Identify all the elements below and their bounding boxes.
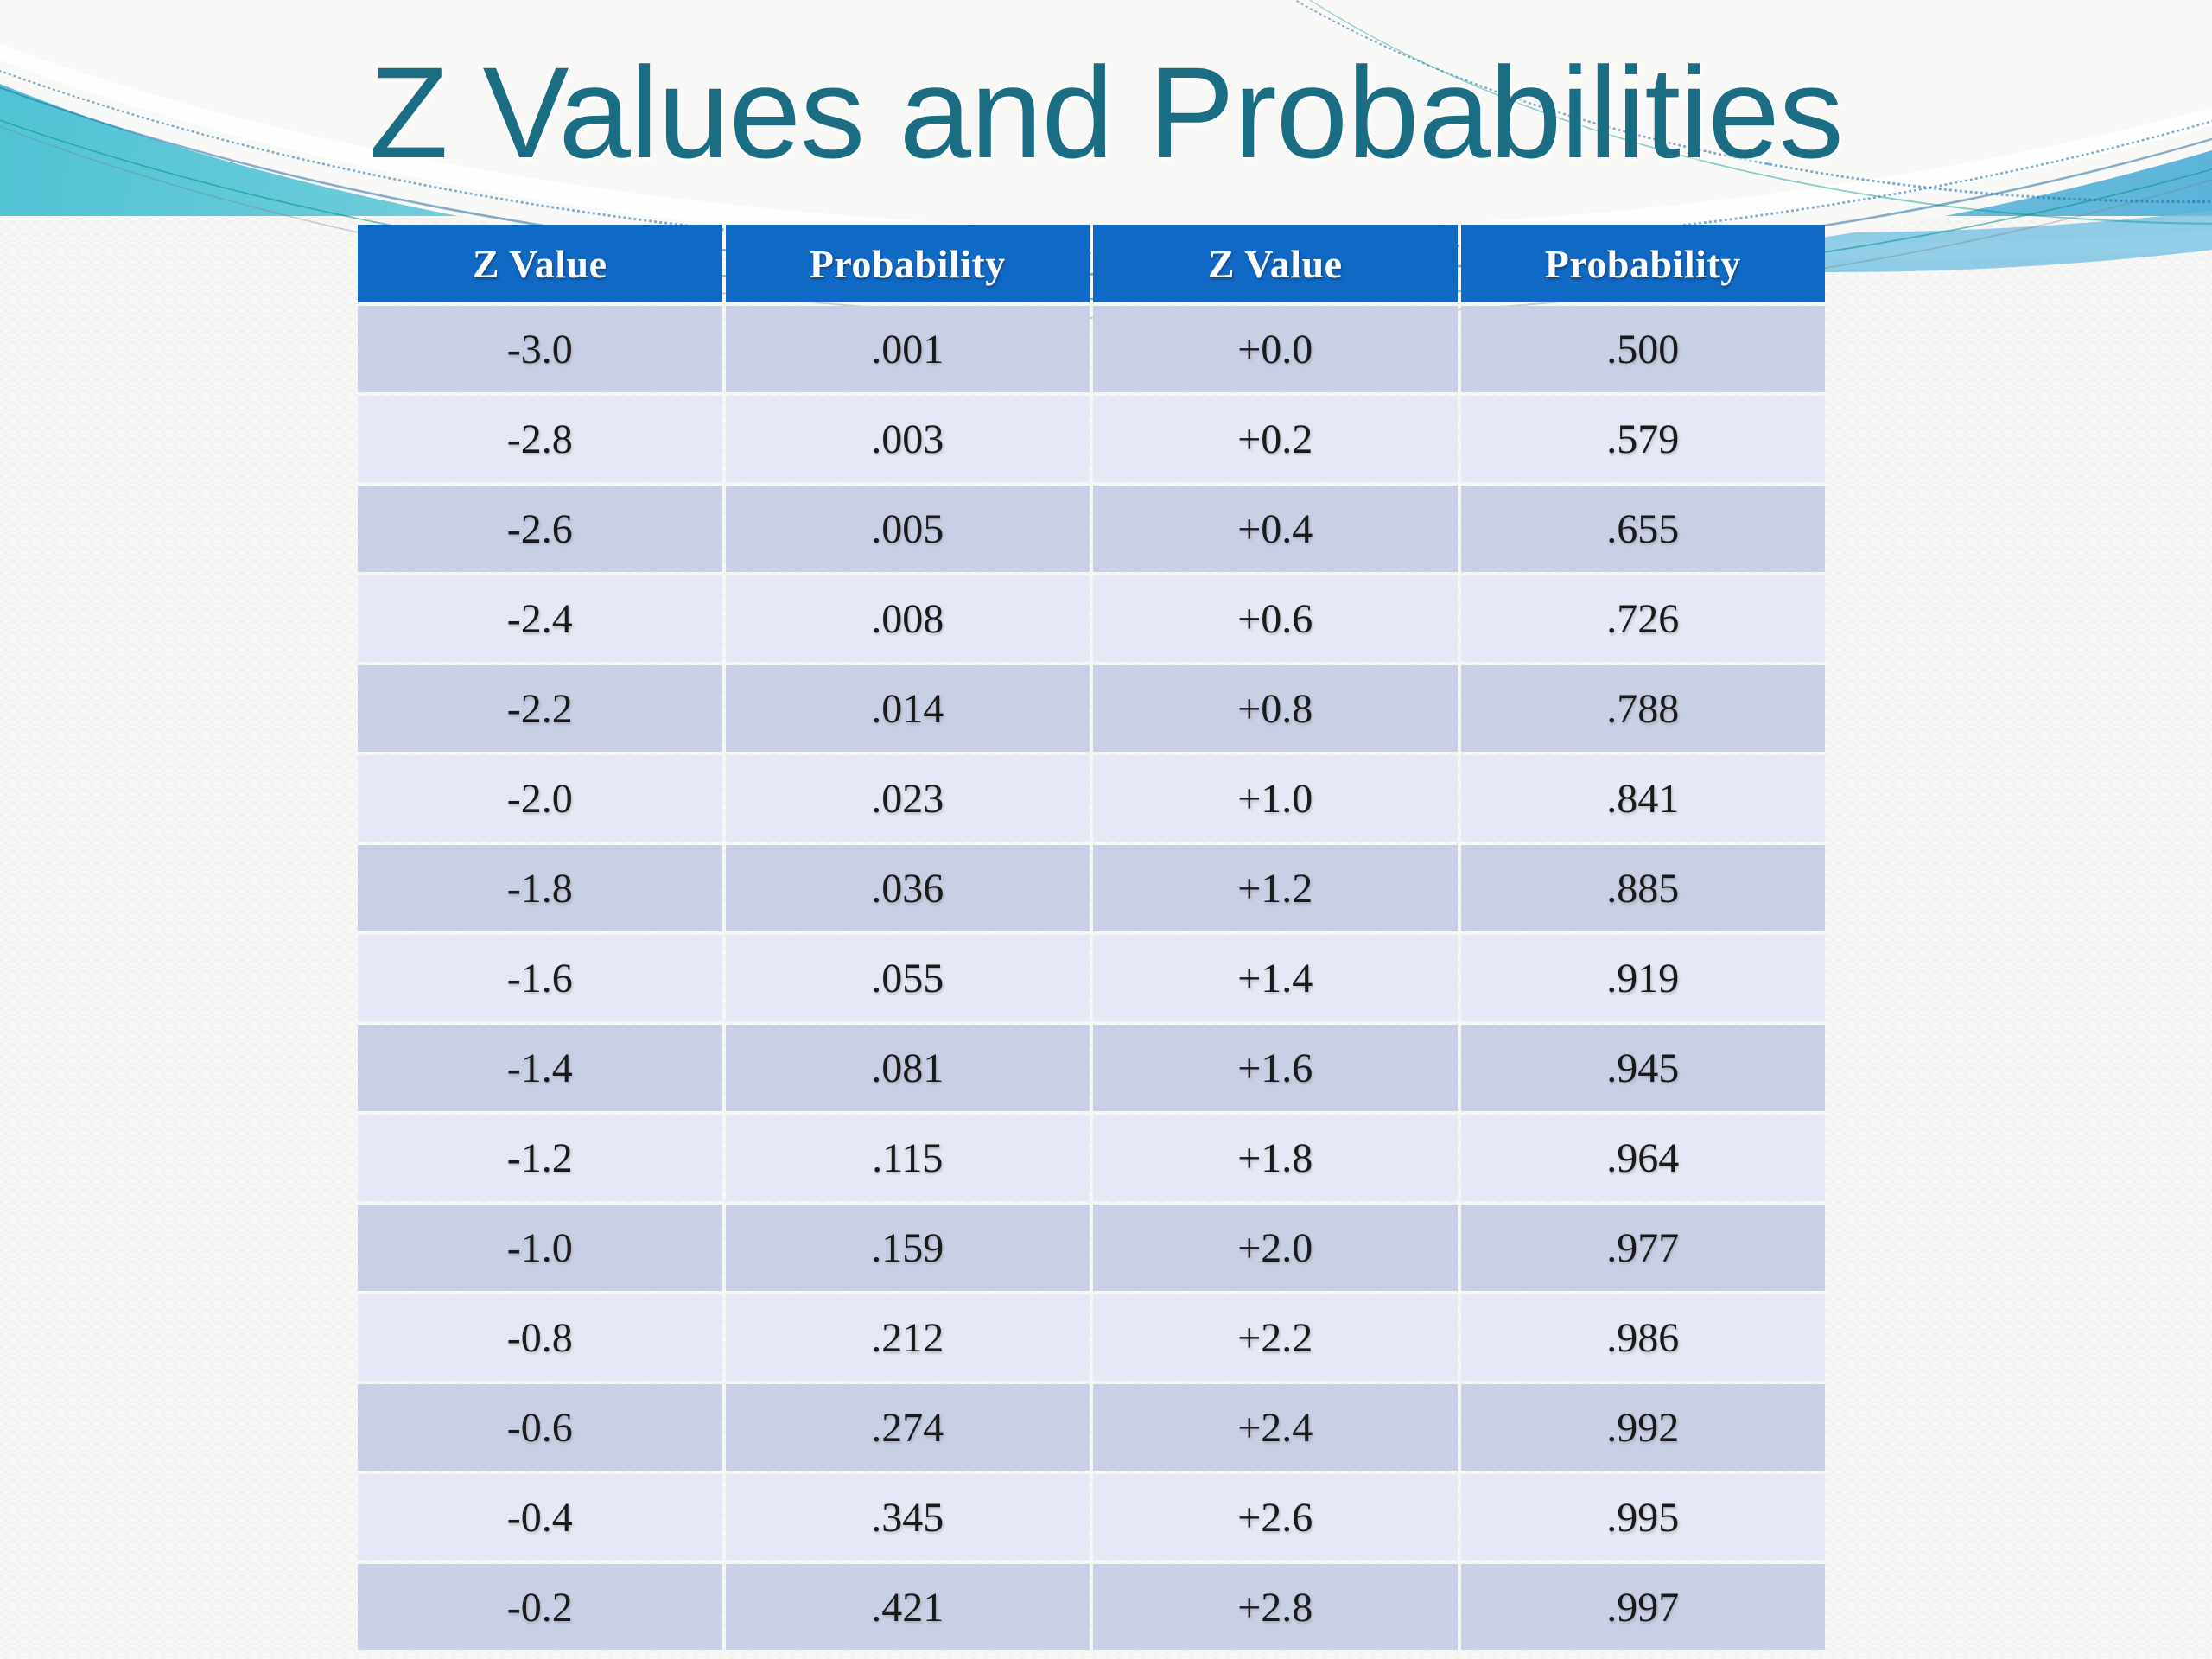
cell-probability-positive: .841 — [1461, 755, 1826, 842]
cell-probability-positive: .945 — [1461, 1025, 1826, 1111]
column-header-z-value-positive: Z Value — [1093, 225, 1458, 302]
table-row: -2.6.005+0.4.655 — [358, 486, 1825, 572]
cell-z-value-negative: -2.8 — [358, 396, 722, 482]
cell-probability-positive: .726 — [1461, 575, 1826, 662]
cell-probability-positive: .977 — [1461, 1205, 1826, 1291]
cell-probability-negative: .159 — [726, 1205, 1090, 1291]
cell-z-value-negative: -0.2 — [358, 1564, 722, 1650]
cell-z-value-negative: -2.0 — [358, 755, 722, 842]
cell-z-value-negative: -0.8 — [358, 1294, 722, 1381]
cell-probability-positive: .655 — [1461, 486, 1826, 572]
cell-z-value-negative: -3.0 — [358, 306, 722, 392]
cell-probability-positive: .997 — [1461, 1564, 1826, 1650]
cell-probability-negative: .081 — [726, 1025, 1090, 1111]
cell-z-value-positive: +0.4 — [1093, 486, 1458, 572]
cell-z-value-negative: -2.2 — [358, 665, 722, 752]
page-title: Z Values and Probabilities — [0, 45, 2212, 181]
table-row: -2.4.008+0.6.726 — [358, 575, 1825, 662]
cell-z-value-negative: -2.4 — [358, 575, 722, 662]
cell-z-value-negative: -1.6 — [358, 935, 722, 1021]
cell-z-value-positive: +0.8 — [1093, 665, 1458, 752]
cell-probability-positive: .919 — [1461, 935, 1826, 1021]
table-row: -0.8.212+2.2.986 — [358, 1294, 1825, 1381]
cell-probability-negative: .345 — [726, 1474, 1090, 1560]
cell-probability-negative: .008 — [726, 575, 1090, 662]
cell-z-value-positive: +1.2 — [1093, 845, 1458, 931]
table-row: -2.8.003+0.2.579 — [358, 396, 1825, 482]
table-row: -3.0.001+0.0.500 — [358, 306, 1825, 392]
table-header: Z Value Probability Z Value Probability — [358, 225, 1825, 302]
z-values-probabilities-table: Z Value Probability Z Value Probability … — [354, 221, 1828, 1654]
cell-z-value-positive: +1.0 — [1093, 755, 1458, 842]
column-header-z-value-negative: Z Value — [358, 225, 722, 302]
cell-probability-positive: .995 — [1461, 1474, 1826, 1560]
cell-probability-positive: .579 — [1461, 396, 1826, 482]
cell-probability-positive: .964 — [1461, 1115, 1826, 1201]
table-row: -1.2.115+1.8.964 — [358, 1115, 1825, 1201]
cell-z-value-positive: +2.6 — [1093, 1474, 1458, 1560]
cell-z-value-negative: -0.4 — [358, 1474, 722, 1560]
cell-probability-negative: .014 — [726, 665, 1090, 752]
cell-z-value-negative: -1.2 — [358, 1115, 722, 1201]
cell-probability-negative: .001 — [726, 306, 1090, 392]
cell-z-value-positive: +1.4 — [1093, 935, 1458, 1021]
column-header-probability-positive: Probability — [1461, 225, 1826, 302]
cell-probability-negative: .023 — [726, 755, 1090, 842]
table-body: -3.0.001+0.0.500-2.8.003+0.2.579-2.6.005… — [358, 306, 1825, 1650]
cell-probability-positive: .500 — [1461, 306, 1826, 392]
table-row: -0.6.274+2.4.992 — [358, 1384, 1825, 1471]
cell-z-value-negative: -0.6 — [358, 1384, 722, 1471]
cell-probability-negative: .055 — [726, 935, 1090, 1021]
cell-probability-negative: .421 — [726, 1564, 1090, 1650]
cell-probability-negative: .005 — [726, 486, 1090, 572]
table-row: -0.2.421+2.8.997 — [358, 1564, 1825, 1650]
cell-z-value-positive: +2.4 — [1093, 1384, 1458, 1471]
table-row: -1.0.159+2.0.977 — [358, 1205, 1825, 1291]
cell-z-value-negative: -1.4 — [358, 1025, 722, 1111]
table-row: -1.4.081+1.6.945 — [358, 1025, 1825, 1111]
cell-z-value-positive: +0.0 — [1093, 306, 1458, 392]
cell-probability-positive: .885 — [1461, 845, 1826, 931]
cell-probability-positive: .788 — [1461, 665, 1826, 752]
cell-z-value-positive: +1.6 — [1093, 1025, 1458, 1111]
cell-probability-negative: .115 — [726, 1115, 1090, 1201]
column-header-probability-negative: Probability — [726, 225, 1090, 302]
cell-z-value-negative: -2.6 — [358, 486, 722, 572]
cell-z-value-positive: +2.2 — [1093, 1294, 1458, 1381]
table-row: -2.2.014+0.8.788 — [358, 665, 1825, 752]
cell-probability-negative: .003 — [726, 396, 1090, 482]
cell-probability-negative: .212 — [726, 1294, 1090, 1381]
cell-z-value-positive: +2.8 — [1093, 1564, 1458, 1650]
cell-z-value-positive: +0.2 — [1093, 396, 1458, 482]
cell-probability-positive: .986 — [1461, 1294, 1826, 1381]
cell-z-value-positive: +1.8 — [1093, 1115, 1458, 1201]
cell-z-value-positive: +0.6 — [1093, 575, 1458, 662]
cell-z-value-positive: +2.0 — [1093, 1205, 1458, 1291]
cell-z-value-negative: -1.8 — [358, 845, 722, 931]
table-row: -2.0.023+1.0.841 — [358, 755, 1825, 842]
cell-probability-positive: .992 — [1461, 1384, 1826, 1471]
cell-probability-negative: .274 — [726, 1384, 1090, 1471]
cell-probability-negative: .036 — [726, 845, 1090, 931]
table-row: -1.6.055+1.4.919 — [358, 935, 1825, 1021]
table-row: -0.4.345+2.6.995 — [358, 1474, 1825, 1560]
table-header-row: Z Value Probability Z Value Probability — [358, 225, 1825, 302]
cell-z-value-negative: -1.0 — [358, 1205, 722, 1291]
table-row: -1.8.036+1.2.885 — [358, 845, 1825, 931]
